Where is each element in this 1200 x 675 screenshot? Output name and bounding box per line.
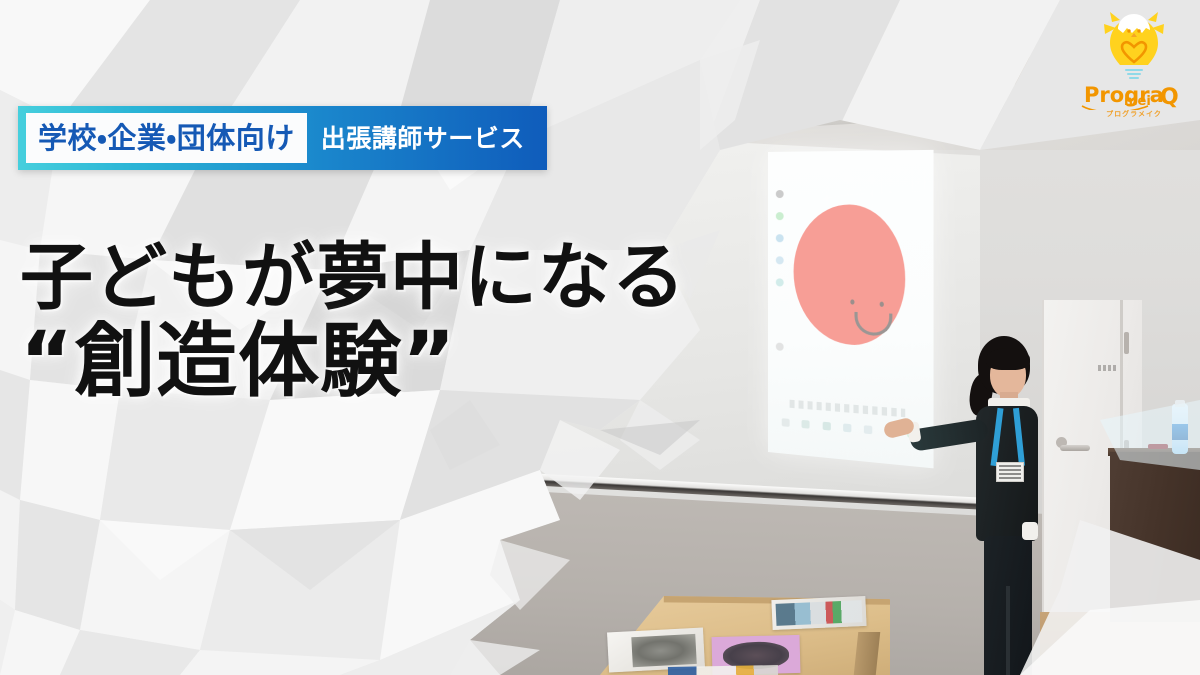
presenter (958, 336, 1050, 675)
toolbar-icon-select (782, 418, 790, 427)
headline-line-1: 子どもが夢中になる (20, 240, 740, 316)
door-hinge-top (1124, 332, 1129, 354)
tool-icon-eraser (776, 256, 784, 264)
bottle-cap (1175, 400, 1185, 407)
logo[interactable]: Progra mei Q プログラメイク (1078, 6, 1190, 128)
presenter-leg-gap (1006, 586, 1010, 675)
presenter-bangs (986, 348, 1030, 370)
badge-service-label: 出張講師サービス (321, 126, 525, 151)
smiley-eye-left (850, 299, 854, 304)
badge-service: 出張講師サービス (307, 113, 529, 163)
audience-badge: 学校・企業・団体向け 出張講師サービス (18, 106, 547, 170)
hero-banner: 学校・企業・団体向け 出張講師サービス 子どもが夢中になる “創造体験” (0, 0, 1200, 675)
printed-material-booklet (771, 596, 866, 630)
smiley-eye-right (880, 302, 884, 307)
tool-icon-shape (776, 278, 784, 286)
table-leg (854, 632, 881, 675)
door-sign (1098, 365, 1116, 371)
printed-material-strip (668, 665, 778, 675)
slide-caption-text (790, 400, 906, 418)
smiley-face-artwork (794, 204, 906, 348)
badge-chip-label: 学校・企業・団体向け (38, 124, 295, 153)
tool-icon-brush (776, 212, 784, 220)
marker-pen (1148, 444, 1168, 449)
headline-line-2: “創造体験” (20, 320, 740, 404)
drawing-app-sidebar (774, 190, 786, 391)
lightbulb-chick-egg-icon (1100, 6, 1168, 84)
toolbar-icon-fill (822, 422, 830, 431)
door-handle (1060, 445, 1090, 451)
logo-kana-subtitle: プログラメイク (1078, 109, 1190, 119)
logo-wordmark-q: Q (1160, 85, 1179, 110)
toolbar-icon-text (843, 423, 851, 432)
presenter-cuff-right (1022, 522, 1038, 540)
logo-wordmark: Progra mei Q (1078, 80, 1190, 110)
smiley-mouth (854, 312, 892, 337)
tool-icon-more (776, 342, 784, 351)
page-title: 子どもが夢中になる “創造体験” (20, 240, 740, 404)
tool-icon-pen (776, 234, 784, 242)
presenter-id-badge (996, 462, 1024, 482)
podium (1110, 452, 1200, 622)
bottle-label (1172, 424, 1188, 440)
toolbar-icon-pencil (802, 420, 810, 429)
badge-chip: 学校・企業・団体向け (26, 113, 307, 163)
tool-icon-color (776, 190, 784, 198)
toolbar-icon-layers (864, 425, 872, 434)
